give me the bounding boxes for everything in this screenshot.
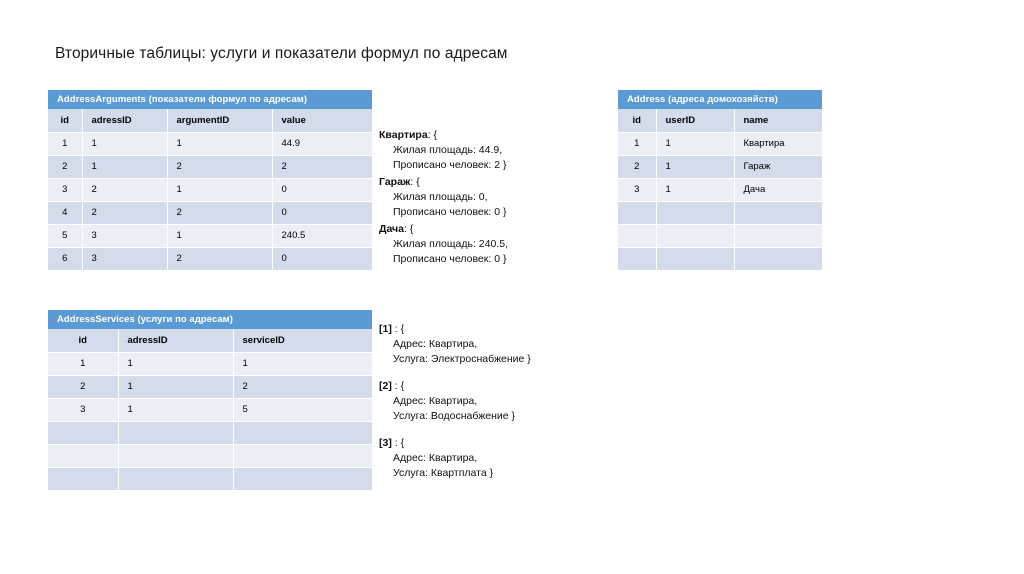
note-group-brace: : { <box>392 437 404 449</box>
note-line: Прописано человек: 2 } <box>379 158 594 173</box>
table-address-services: AddressServices (услуги по адресам) idad… <box>48 310 372 491</box>
note-group-brace: : { <box>392 380 404 392</box>
table-cell-empty <box>118 444 233 467</box>
table-row: 531240.5 <box>48 224 372 247</box>
table-cell: 2 <box>82 201 167 224</box>
table-cell-empty <box>118 467 233 490</box>
note-line: Прописано человек: 0 } <box>379 205 594 220</box>
table-cell: 1 <box>118 375 233 398</box>
slide-canvas: { "slide": { "title": "Вторичные таблицы… <box>0 0 1024 574</box>
table-cell: 1 <box>167 224 272 247</box>
table-cell: Квартира <box>734 132 822 155</box>
table-row-empty <box>48 444 372 467</box>
table-caption: AddressServices (услуги по адресам) <box>48 310 372 329</box>
table-cell: 1 <box>82 155 167 178</box>
column-header: id <box>48 109 82 132</box>
table-header: idadressIDserviceID <box>48 329 372 352</box>
note-group-title: Квартира: { <box>379 128 594 143</box>
table-address-arguments: AddressArguments (показатели формул по а… <box>48 90 372 271</box>
table-row: 21Гараж <box>618 155 822 178</box>
table-cell-empty <box>656 247 734 270</box>
table-cell: 1 <box>167 178 272 201</box>
table-cell: 44.9 <box>272 132 372 155</box>
column-header: adressID <box>118 329 233 352</box>
note-group-brace: : { <box>392 323 404 335</box>
table-cell: 3 <box>82 247 167 270</box>
table-cell-empty <box>48 421 118 444</box>
table-header: iduserIDname <box>618 109 822 132</box>
table-cell: 3 <box>82 224 167 247</box>
table-address: Address (адреса домохозяйств) iduserIDna… <box>618 90 822 271</box>
table-cell-empty <box>734 224 822 247</box>
table-row: 212 <box>48 375 372 398</box>
table-cell: 1 <box>656 155 734 178</box>
column-header: id <box>618 109 656 132</box>
note-group-brace: : { <box>410 176 419 188</box>
note-line: Адрес: Квартира, <box>379 337 594 352</box>
table-cell: 2 <box>618 155 656 178</box>
note-group-title: Дача: { <box>379 222 594 237</box>
table-cell: 5 <box>233 398 372 421</box>
table-cell: 1 <box>82 132 167 155</box>
note-line: Услуга: Электроснабжение } <box>379 352 594 367</box>
table-row: 111 <box>48 352 372 375</box>
note-group-brace: : { <box>404 223 413 235</box>
table-cell: 240.5 <box>272 224 372 247</box>
note-group: Гараж: {Жилая площадь: 0,Прописано челов… <box>379 175 594 220</box>
table-cell: 3 <box>48 178 82 201</box>
note-line: Адрес: Квартира, <box>379 451 594 466</box>
note-line: Жилая площадь: 240.5, <box>379 237 594 252</box>
table-cell-empty <box>734 247 822 270</box>
table-row-empty <box>618 247 822 270</box>
header-row: idadressIDserviceID <box>48 329 372 352</box>
table-cell: 4 <box>48 201 82 224</box>
table-cell-empty <box>48 444 118 467</box>
table-row-empty <box>48 467 372 490</box>
table-cell: 2 <box>82 178 167 201</box>
table-cell-empty <box>118 421 233 444</box>
note-line: Прописано человек: 0 } <box>379 252 594 267</box>
note-line: Услуга: Квартплата } <box>379 466 594 481</box>
table-header: idadressIDargumentIDvalue <box>48 109 372 132</box>
table-cell: 2 <box>233 375 372 398</box>
table-row-empty <box>618 224 822 247</box>
note-group-title: [1] : { <box>379 322 594 337</box>
note-address-services: [1] : {Адрес: Квартира,Услуга: Электросн… <box>379 322 594 493</box>
page-title: Вторичные таблицы: услуги и показатели ф… <box>55 45 508 63</box>
note-line: Жилая площадь: 0, <box>379 190 594 205</box>
table-cell: 1 <box>48 352 118 375</box>
note-group: Дача: {Жилая площадь: 240.5,Прописано че… <box>379 222 594 267</box>
note-group-title: Гараж: { <box>379 175 594 190</box>
table-row: 11Квартира <box>618 132 822 155</box>
table-cell: 3 <box>618 178 656 201</box>
column-header: serviceID <box>233 329 372 352</box>
note-group: [1] : {Адрес: Квартира,Услуга: Электросн… <box>379 322 594 367</box>
table-cell: 1 <box>167 132 272 155</box>
table-cell: Гараж <box>734 155 822 178</box>
data-grid: iduserIDname 11Квартира21Гараж31Дача <box>618 109 822 271</box>
note-group-title: [3] : { <box>379 436 594 451</box>
table-cell: 1 <box>618 132 656 155</box>
table-cell-empty <box>734 201 822 224</box>
table-row-empty <box>618 201 822 224</box>
table-cell-empty <box>233 444 372 467</box>
note-group: Квартира: {Жилая площадь: 44.9,Прописано… <box>379 128 594 173</box>
table-cell: 1 <box>118 352 233 375</box>
data-grid: idadressIDargumentIDvalue 11144.92122321… <box>48 109 372 271</box>
table-cell: 0 <box>272 201 372 224</box>
column-header: id <box>48 329 118 352</box>
table-cell: 2 <box>48 155 82 178</box>
table-cell: 2 <box>167 247 272 270</box>
column-header: argumentID <box>167 109 272 132</box>
table-caption: AddressArguments (показатели формул по а… <box>48 90 372 109</box>
table-cell: 2 <box>48 375 118 398</box>
table-row: 2122 <box>48 155 372 178</box>
table-row: 11144.9 <box>48 132 372 155</box>
table-body: 11Квартира21Гараж31Дача <box>618 132 822 270</box>
note-line: Адрес: Квартира, <box>379 394 594 409</box>
table-cell: Дача <box>734 178 822 201</box>
table-row: 4220 <box>48 201 372 224</box>
table-body: 11144.9212232104220531240.56320 <box>48 132 372 270</box>
note-address-arguments: Квартира: {Жилая площадь: 44.9,Прописано… <box>379 128 594 269</box>
table-cell-empty <box>233 467 372 490</box>
note-group: [3] : {Адрес: Квартира,Услуга: Квартплат… <box>379 436 594 481</box>
table-cell-empty <box>656 224 734 247</box>
table-cell: 3 <box>48 398 118 421</box>
header-row: iduserIDname <box>618 109 822 132</box>
header-row: idadressIDargumentIDvalue <box>48 109 372 132</box>
table-cell-empty <box>618 201 656 224</box>
table-cell: 0 <box>272 178 372 201</box>
table-cell: 1 <box>233 352 372 375</box>
table-cell: 1 <box>656 132 734 155</box>
table-cell: 6 <box>48 247 82 270</box>
table-row: 3210 <box>48 178 372 201</box>
column-header: userID <box>656 109 734 132</box>
table-cell: 0 <box>272 247 372 270</box>
table-row: 6320 <box>48 247 372 270</box>
table-caption: Address (адреса домохозяйств) <box>618 90 822 109</box>
note-group-title: [2] : { <box>379 379 594 394</box>
data-grid: idadressIDserviceID 111212315 <box>48 329 372 491</box>
table-cell: 2 <box>167 201 272 224</box>
table-cell: 1 <box>118 398 233 421</box>
note-line: Услуга: Водоснабжение } <box>379 409 594 424</box>
table-cell: 5 <box>48 224 82 247</box>
table-row: 315 <box>48 398 372 421</box>
column-header: adressID <box>82 109 167 132</box>
table-cell: 1 <box>656 178 734 201</box>
table-cell-empty <box>656 201 734 224</box>
table-cell: 2 <box>167 155 272 178</box>
table-cell-empty <box>618 247 656 270</box>
note-group-brace: : { <box>428 129 437 141</box>
table-cell-empty <box>233 421 372 444</box>
table-row-empty <box>48 421 372 444</box>
table-cell: 1 <box>48 132 82 155</box>
table-cell-empty <box>48 467 118 490</box>
column-header: name <box>734 109 822 132</box>
column-header: value <box>272 109 372 132</box>
note-group: [2] : {Адрес: Квартира,Услуга: Водоснабж… <box>379 379 594 424</box>
table-body: 111212315 <box>48 352 372 490</box>
table-cell-empty <box>618 224 656 247</box>
note-line: Жилая площадь: 44.9, <box>379 143 594 158</box>
table-cell: 2 <box>272 155 372 178</box>
table-row: 31Дача <box>618 178 822 201</box>
